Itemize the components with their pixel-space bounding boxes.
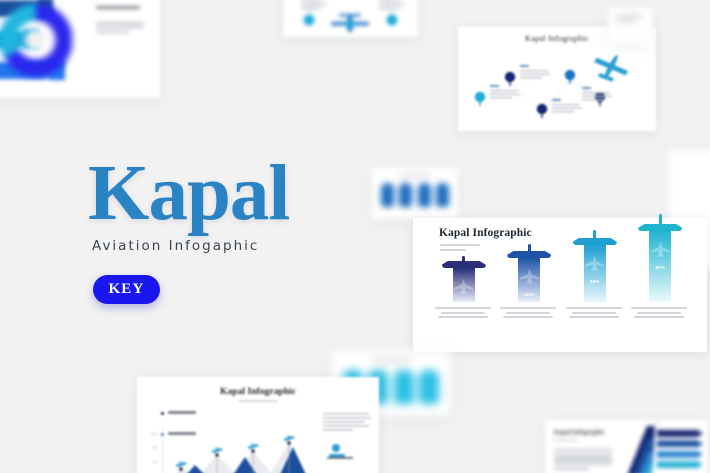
capsule-icon	[436, 183, 449, 207]
capsule-icon	[419, 370, 439, 404]
area-chart-svg: 100806040	[137, 377, 379, 473]
arrow-list-item[interactable]	[657, 430, 703, 437]
capsule-icon	[399, 183, 412, 207]
key-badge[interactable]: KEY	[93, 275, 160, 304]
page-title: Kapal	[88, 158, 388, 231]
card-area-chart[interactable]: Kapal Infographic 100806040	[137, 377, 379, 473]
bar-column: 35%	[438, 256, 490, 321]
hero-block: Kapal Aviation Infogaphic KEY	[88, 158, 388, 304]
bar-column: 80%	[634, 214, 686, 321]
card-capsules-blue[interactable]	[372, 167, 458, 219]
node-diagram-svg	[283, 0, 418, 37]
card-node-diagram[interactable]	[283, 0, 418, 37]
bar-value-label: 35%	[459, 302, 469, 307]
key-badge-label: KEY	[108, 281, 144, 298]
arrow-list-item[interactable]	[657, 461, 703, 468]
bar-chart-plot: 35% 40%	[431, 226, 693, 321]
bar-value-label: 80%	[655, 265, 665, 270]
bar-column: 40%	[503, 244, 555, 321]
map-pin	[595, 92, 605, 106]
card-donut-chart[interactable]	[0, 0, 72, 80]
card-tiny-ghost	[608, 7, 652, 43]
capsule-icon	[394, 370, 414, 404]
svg-text:100: 100	[151, 432, 157, 436]
card-bar-chart[interactable]: Kapal Infographic 35%	[413, 218, 707, 352]
bar-value-label: 60%	[590, 279, 600, 284]
plane-glyph-icon	[651, 241, 670, 257]
card-title: Kapal Infographic	[554, 429, 612, 436]
plane-glyph-icon	[520, 268, 539, 284]
capsule-icon	[381, 183, 394, 207]
plane-glyph-icon	[454, 278, 473, 294]
arrow-list-item[interactable]	[657, 451, 703, 458]
map-pin	[537, 104, 547, 118]
arrow-list-item[interactable]	[657, 440, 703, 447]
pyramid-graphic	[621, 420, 661, 473]
svg-text:60: 60	[153, 460, 157, 464]
plane-glyph-icon	[585, 255, 604, 271]
poster-canvas: Kapal Infographic	[0, 0, 710, 473]
card-arrow-list[interactable]: Kapal Infographic	[545, 420, 708, 473]
svg-text:80: 80	[153, 446, 157, 450]
donut-chart-svg	[0, 0, 72, 80]
map-pin	[505, 72, 515, 86]
page-subtitle: Aviation Infogaphic	[92, 238, 388, 254]
capsule-icon	[418, 183, 431, 207]
bar-value-label: 40%	[524, 292, 534, 297]
bar-column: 60%	[569, 230, 621, 321]
map-pin	[475, 92, 485, 106]
